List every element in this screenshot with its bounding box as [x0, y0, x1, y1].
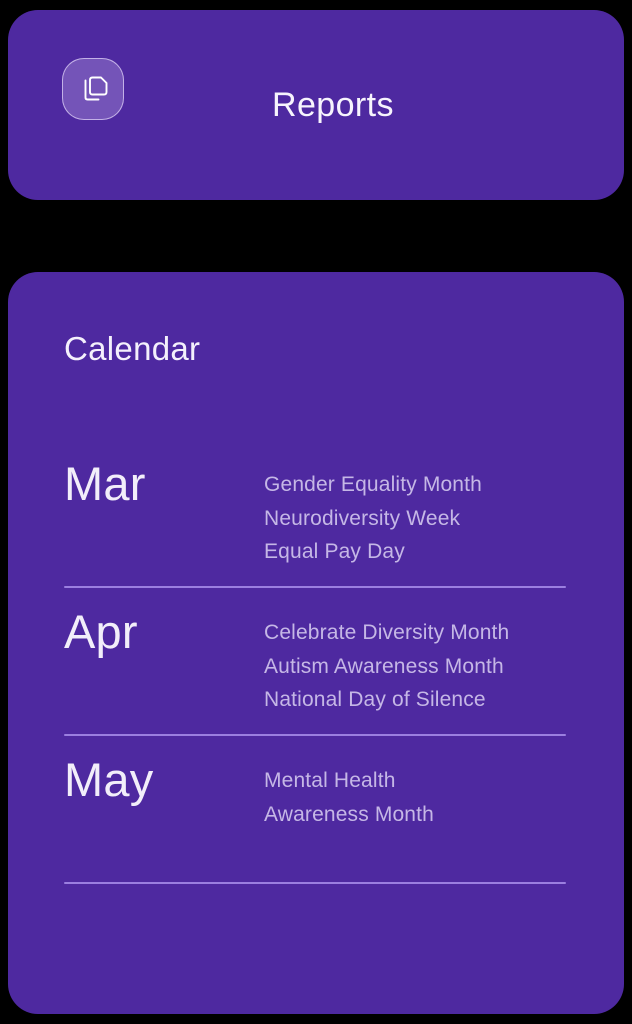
event-item[interactable]: Gender Equality Month — [264, 468, 568, 502]
calendar-card: Calendar Mar Gender Equality Month Neuro… — [8, 272, 624, 1014]
event-item[interactable]: National Day of Silence — [264, 683, 568, 717]
reports-app-icon-tile[interactable] — [62, 58, 124, 120]
calendar-row-mar[interactable]: Mar Gender Equality Month Neurodiversity… — [8, 458, 624, 586]
event-list-apr: Celebrate Diversity Month Autism Awarene… — [264, 606, 568, 717]
event-item[interactable]: Mental Health — [264, 764, 568, 798]
event-item[interactable]: Celebrate Diversity Month — [264, 616, 568, 650]
event-item[interactable]: Awareness Month — [264, 798, 568, 832]
month-label-mar: Mar — [64, 460, 264, 507]
event-item[interactable]: Autism Awareness Month — [264, 650, 568, 684]
event-list-may: Mental Health Awareness Month — [264, 754, 568, 831]
event-list-mar: Gender Equality Month Neurodiversity Wee… — [264, 458, 568, 569]
section-title: Calendar — [64, 330, 200, 368]
row-spacer — [8, 588, 624, 606]
copy-documents-icon — [73, 69, 113, 109]
row-spacer — [8, 736, 624, 754]
row-spacer — [8, 884, 624, 902]
calendar-month-list: Mar Gender Equality Month Neurodiversity… — [8, 458, 624, 902]
page-title: Reports — [272, 10, 394, 200]
reports-header-card: Reports — [8, 10, 624, 200]
event-item[interactable]: Equal Pay Day — [264, 535, 568, 569]
event-item[interactable]: Neurodiversity Week — [264, 502, 568, 536]
calendar-row-may[interactable]: May Mental Health Awareness Month — [8, 754, 624, 882]
month-label-apr: Apr — [64, 608, 264, 655]
month-label-may: May — [64, 756, 264, 803]
calendar-row-apr[interactable]: Apr Celebrate Diversity Month Autism Awa… — [8, 606, 624, 734]
